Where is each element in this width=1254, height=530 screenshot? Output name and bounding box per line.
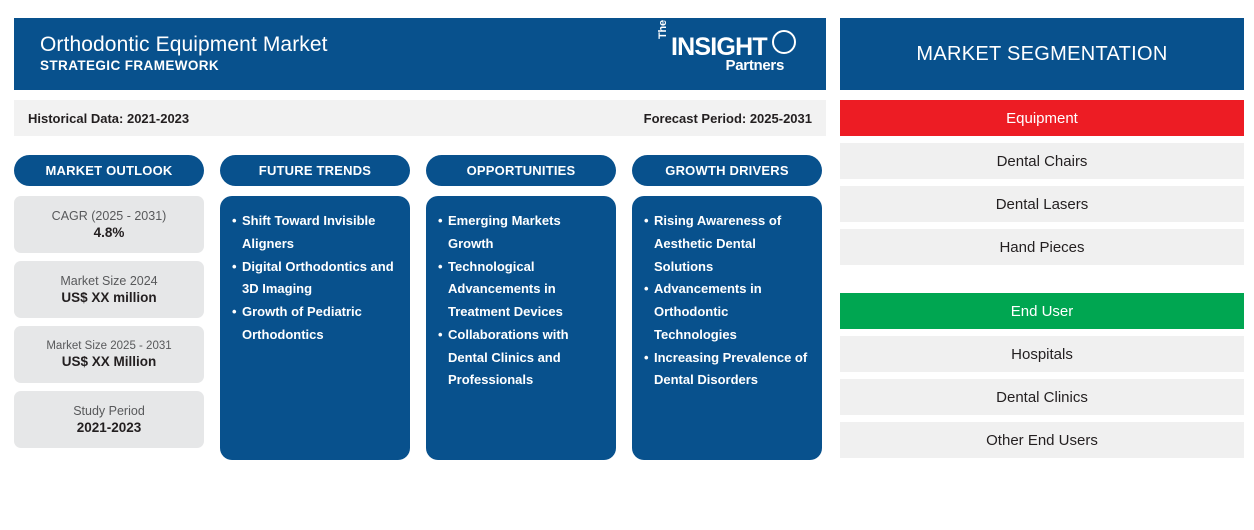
stat-card-cagr: CAGR (2025 - 2031) 4.8% xyxy=(14,196,204,253)
list-item: Collaborations with Dental Clinics and P… xyxy=(438,324,606,392)
opportunities-pill[interactable]: OPPORTUNITIES xyxy=(426,155,616,186)
list-item[interactable]: Dental Clinics xyxy=(840,379,1244,415)
future-trends-list: Shift Toward Invisible Aligners Digital … xyxy=(232,210,400,347)
stat-value: 4.8% xyxy=(94,225,125,240)
forecast-period-label: Forecast Period: 2025-2031 xyxy=(644,111,812,126)
segment-group-end-user: End User Hospitals Dental Clinics Other … xyxy=(840,293,1244,458)
segment-group-equipment: Equipment Dental Chairs Dental Lasers Ha… xyxy=(840,100,1244,265)
stat-value: US$ XX Million xyxy=(62,354,157,369)
list-item: Digital Orthodontics and 3D Imaging xyxy=(232,256,400,302)
data-period-bar: Historical Data: 2021-2023 Forecast Peri… xyxy=(14,100,826,136)
future-trends-pill[interactable]: FUTURE TRENDS xyxy=(220,155,410,186)
logo-ring-icon xyxy=(772,30,796,54)
header-titles: Orthodontic Equipment Market STRATEGIC F… xyxy=(40,34,328,73)
page-title: Orthodontic Equipment Market xyxy=(40,34,328,56)
stat-value: 2021-2023 xyxy=(77,420,142,435)
column-growth-drivers: GROWTH DRIVERS Rising Awareness of Aesth… xyxy=(632,155,822,460)
list-item[interactable]: Dental Lasers xyxy=(840,186,1244,222)
stat-label: Study Period xyxy=(73,404,145,418)
growth-drivers-pill[interactable]: GROWTH DRIVERS xyxy=(632,155,822,186)
list-item[interactable]: Hospitals xyxy=(840,336,1244,372)
market-segmentation-panel: MARKET SEGMENTATION Equipment Dental Cha… xyxy=(840,18,1244,468)
column-opportunities: OPPORTUNITIES Emerging Markets Growth Te… xyxy=(426,155,616,460)
stat-card-market-size-2024: Market Size 2024 US$ XX million xyxy=(14,261,204,318)
stat-label: Market Size 2025 - 2031 xyxy=(46,340,171,352)
list-item: Growth of Pediatric Orthodontics xyxy=(232,301,400,347)
list-item[interactable]: Hand Pieces xyxy=(840,229,1244,265)
strategic-framework-panel: Orthodontic Equipment Market STRATEGIC F… xyxy=(14,18,826,468)
page-subtitle: STRATEGIC FRAMEWORK xyxy=(40,59,328,73)
panel-header: Orthodontic Equipment Market STRATEGIC F… xyxy=(14,18,826,90)
infographic-canvas: Orthodontic Equipment Market STRATEGIC F… xyxy=(0,0,1254,530)
column-future-trends: FUTURE TRENDS Shift Toward Invisible Ali… xyxy=(220,155,410,460)
growth-drivers-list: Rising Awareness of Aesthetic Dental Sol… xyxy=(644,210,812,392)
list-item: Increasing Prevalence of Dental Disorder… xyxy=(644,347,812,393)
list-item: Shift Toward Invisible Aligners xyxy=(232,210,400,256)
segment-group-divider xyxy=(840,265,1244,283)
logo-partners-text: Partners xyxy=(726,57,784,74)
list-item: Advancements in Orthodontic Technologies xyxy=(644,278,812,346)
stat-label: CAGR (2025 - 2031) xyxy=(52,209,167,223)
segmentation-title: MARKET SEGMENTATION xyxy=(840,18,1244,90)
stat-card-market-size-forecast: Market Size 2025 - 2031 US$ XX Million xyxy=(14,326,204,383)
market-outlook-pill[interactable]: MARKET OUTLOOK xyxy=(14,155,204,186)
list-item: Emerging Markets Growth xyxy=(438,210,606,256)
list-item[interactable]: Dental Chairs xyxy=(840,143,1244,179)
framework-columns: MARKET OUTLOOK CAGR (2025 - 2031) 4.8% M… xyxy=(14,155,826,460)
segment-header-end-user[interactable]: End User xyxy=(840,293,1244,329)
market-outlook-stats: CAGR (2025 - 2031) 4.8% Market Size 2024… xyxy=(14,196,204,448)
opportunities-card: Emerging Markets Growth Technological Ad… xyxy=(426,196,616,460)
opportunities-list: Emerging Markets Growth Technological Ad… xyxy=(438,210,606,392)
column-market-outlook: MARKET OUTLOOK CAGR (2025 - 2031) 4.8% M… xyxy=(14,155,204,460)
list-item[interactable]: Other End Users xyxy=(840,422,1244,458)
list-item: Rising Awareness of Aesthetic Dental Sol… xyxy=(644,210,812,278)
logo-the-text: The xyxy=(657,20,669,39)
insight-partners-logo: The INSIGHT Partners xyxy=(656,28,798,80)
segment-header-equipment[interactable]: Equipment xyxy=(840,100,1244,136)
stat-value: US$ XX million xyxy=(61,290,156,305)
historical-data-label: Historical Data: 2021-2023 xyxy=(28,111,189,126)
list-item: Technological Advancements in Treatment … xyxy=(438,256,606,324)
stat-card-study-period: Study Period 2021-2023 xyxy=(14,391,204,448)
stat-label: Market Size 2024 xyxy=(60,274,157,288)
future-trends-card: Shift Toward Invisible Aligners Digital … xyxy=(220,196,410,460)
growth-drivers-card: Rising Awareness of Aesthetic Dental Sol… xyxy=(632,196,822,460)
